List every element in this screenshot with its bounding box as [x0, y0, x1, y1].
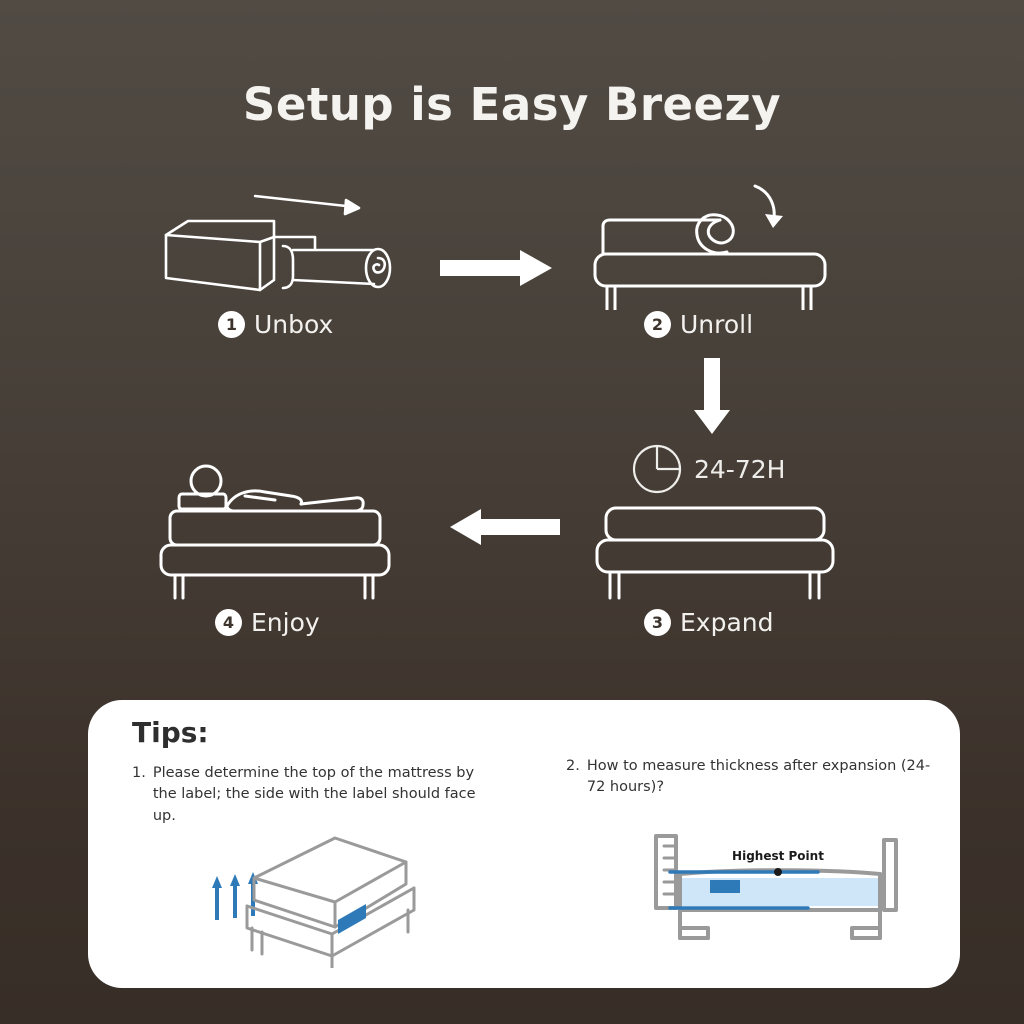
wait-duration: 24-72H	[632, 444, 785, 494]
tip-1-text: Please determine the top of the mattress…	[153, 763, 502, 827]
step-4-number: 4	[215, 609, 242, 636]
blue-label-patch	[338, 904, 366, 934]
mattress-fill	[680, 878, 880, 906]
box-with-rolled-mattress-icon	[166, 221, 390, 290]
arrow-left-icon	[450, 508, 560, 546]
tips-heading: Tips:	[132, 716, 209, 749]
step-2-label: Unroll	[680, 310, 753, 339]
blue-label-patch	[710, 880, 740, 893]
clock-icon	[632, 444, 682, 494]
step-2-caption: 2 Unroll	[644, 310, 753, 339]
step-2-illustration	[585, 180, 850, 310]
bed-with-unrolling-mattress-icon	[595, 186, 825, 310]
step-3-caption: 3 Expand	[644, 608, 774, 637]
tip-item-2: 2. How to measure thickness after expans…	[566, 756, 946, 799]
tip-2-text: How to measure thickness after expansion…	[587, 756, 946, 799]
bed-with-ruler-measurement-icon: Highest Point	[638, 830, 908, 948]
step-2-number: 2	[644, 311, 671, 338]
flat-mattress-on-bed-icon	[597, 508, 833, 598]
mattress-body	[254, 838, 406, 927]
step-3-number: 3	[644, 609, 671, 636]
person-sleeping-on-bed-icon	[161, 466, 389, 598]
step-3-label: Expand	[680, 608, 774, 637]
page-title: Setup is Easy Breezy	[0, 78, 1024, 131]
highest-point-marker	[774, 868, 782, 876]
wait-duration-label: 24-72H	[694, 455, 785, 484]
blue-up-arrows-icon	[212, 872, 258, 920]
arrow-right-icon	[440, 248, 555, 288]
tip-item-1: 1. Please determine the top of the mattr…	[132, 763, 502, 827]
step-3-illustration	[588, 500, 843, 600]
step-4-illustration	[145, 448, 415, 600]
step-1-illustration	[150, 180, 430, 310]
step-1-label: Unbox	[254, 310, 333, 339]
highest-point-label: Highest Point	[732, 849, 824, 863]
infographic-canvas: Setup is Easy Breezy 1 Unbox	[0, 0, 1024, 1024]
step-4-label: Enjoy	[251, 608, 320, 637]
step-4-caption: 4 Enjoy	[215, 608, 320, 637]
thin-arrow-right-icon	[255, 196, 359, 214]
step-1-caption: 1 Unbox	[218, 310, 333, 339]
tip-1-index: 1.	[132, 763, 146, 827]
step-1-number: 1	[218, 311, 245, 338]
tip-2-index: 2.	[566, 756, 580, 799]
arrow-down-icon	[692, 358, 732, 436]
isometric-mattress-on-bed-frame-icon	[192, 828, 438, 968]
tips-card: Tips: 1. Please determine the top of the…	[88, 700, 960, 988]
